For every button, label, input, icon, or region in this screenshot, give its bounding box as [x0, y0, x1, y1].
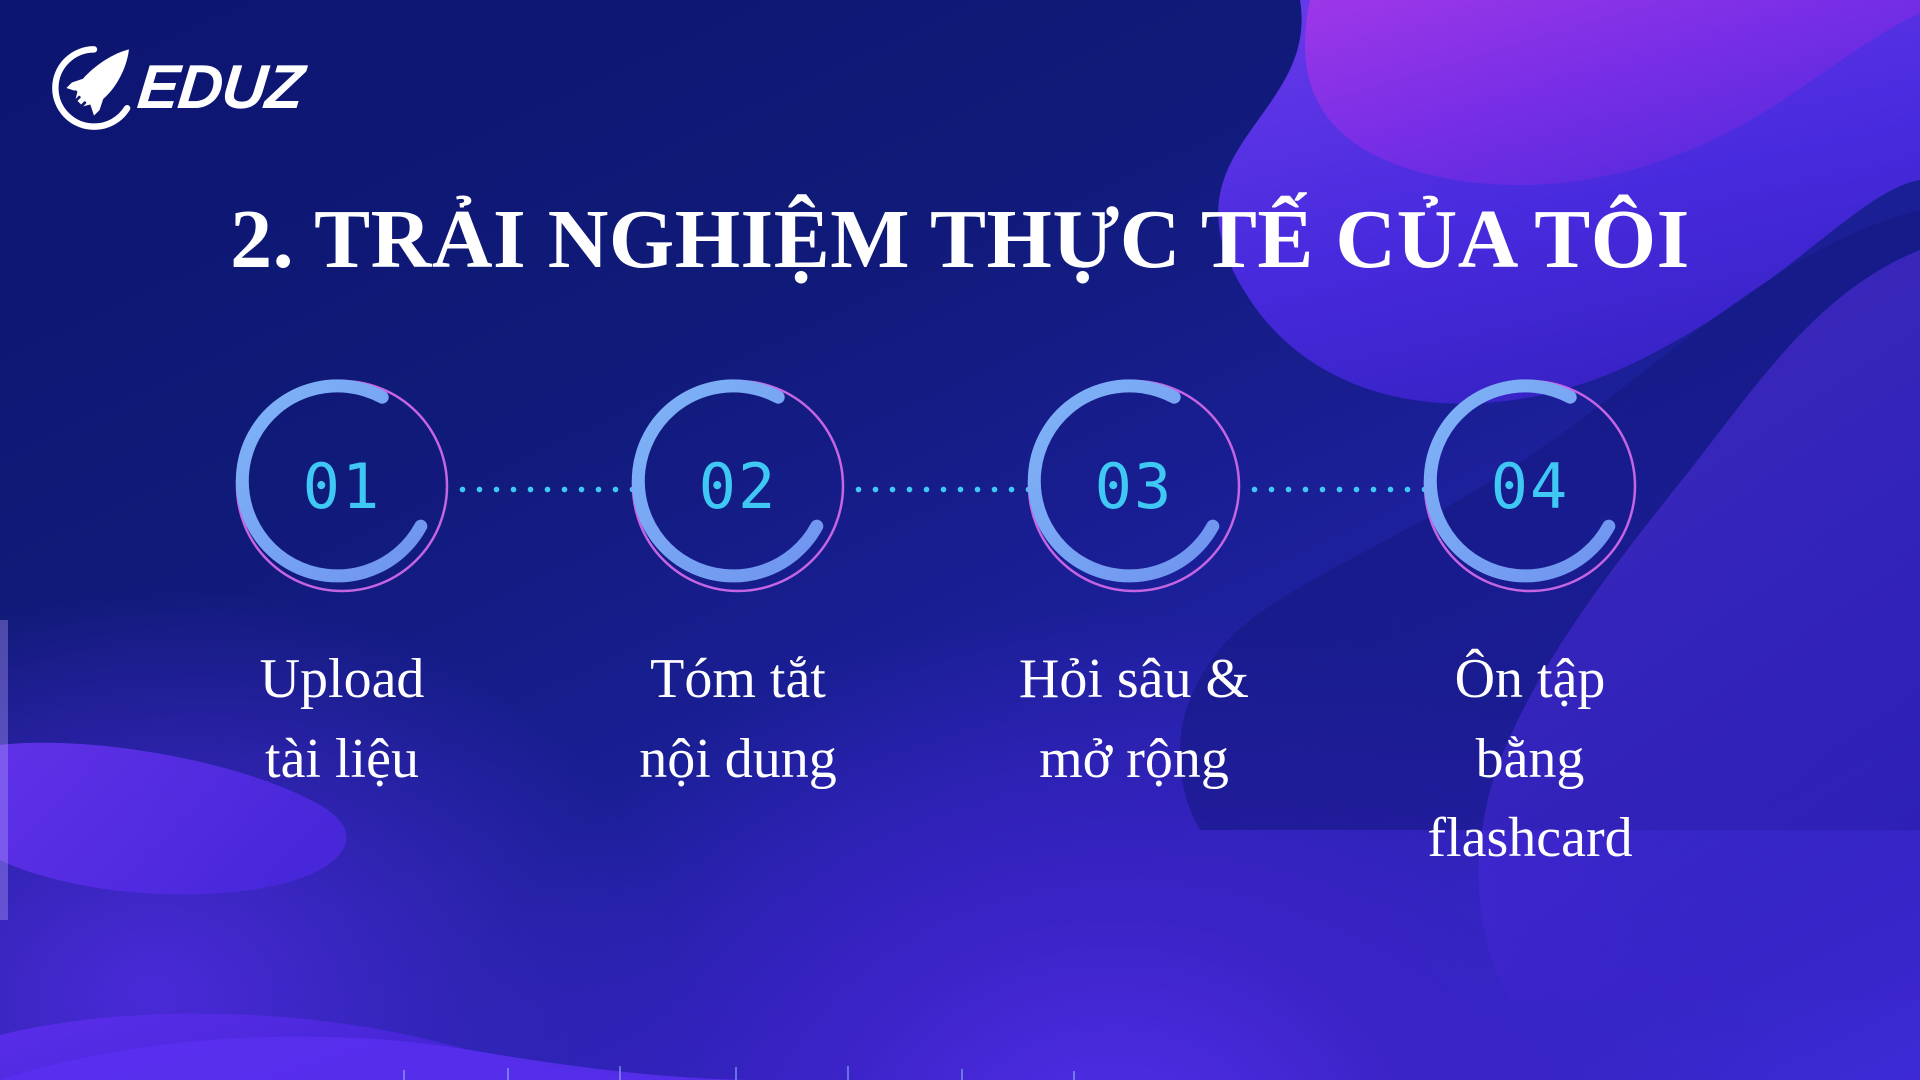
- step-circle-row: 01 02 03 04: [232, 376, 1752, 616]
- brand-wordmark: EDUZ: [135, 57, 306, 119]
- slide-canvas: EDUZ 2. TRẢI NGHIỆM THỰC TẾ CỦA TÔI 01: [0, 0, 1920, 1080]
- step-circle-04[interactable]: 04: [1420, 376, 1640, 596]
- step-label-04-line-1: Ôn tập: [1400, 640, 1660, 720]
- connector-02-03: [850, 486, 1036, 493]
- step-label-03-line-2: mở rộng: [1004, 720, 1264, 800]
- step-number-02: 02: [628, 376, 848, 596]
- step-label-04: Ôn tập bằng flashcard: [1400, 640, 1660, 879]
- rocket-in-circle-icon: [48, 42, 140, 134]
- step-number-03: 03: [1024, 376, 1244, 596]
- step-number-04: 04: [1420, 376, 1640, 596]
- step-label-01-line-1: Upload: [212, 640, 472, 720]
- step-label-02-line-2: nội dung: [608, 720, 868, 800]
- step-circle-03[interactable]: 03: [1024, 376, 1244, 596]
- bottom-tick-marks: [0, 1066, 1920, 1080]
- connector-01-02: [454, 486, 640, 493]
- connector-03-04: [1246, 486, 1432, 493]
- step-label-04-line-2: bằng: [1400, 720, 1660, 800]
- step-label-01: Upload tài liệu: [212, 640, 472, 799]
- step-label-02-line-1: Tóm tắt: [608, 640, 868, 720]
- step-label-04-line-3: flashcard: [1400, 799, 1660, 879]
- step-label-03: Hỏi sâu & mở rộng: [1004, 640, 1264, 799]
- step-circle-02[interactable]: 02: [628, 376, 848, 596]
- step-label-01-line-2: tài liệu: [212, 720, 472, 800]
- step-label-02: Tóm tắt nội dung: [608, 640, 868, 799]
- slide-title: 2. TRẢI NGHIỆM THỰC TẾ CỦA TÔI: [0, 196, 1920, 284]
- step-label-03-line-1: Hỏi sâu &: [1004, 640, 1264, 720]
- step-number-01: 01: [232, 376, 452, 596]
- brand-logo[interactable]: EDUZ: [48, 42, 303, 134]
- step-circle-01[interactable]: 01: [232, 376, 452, 596]
